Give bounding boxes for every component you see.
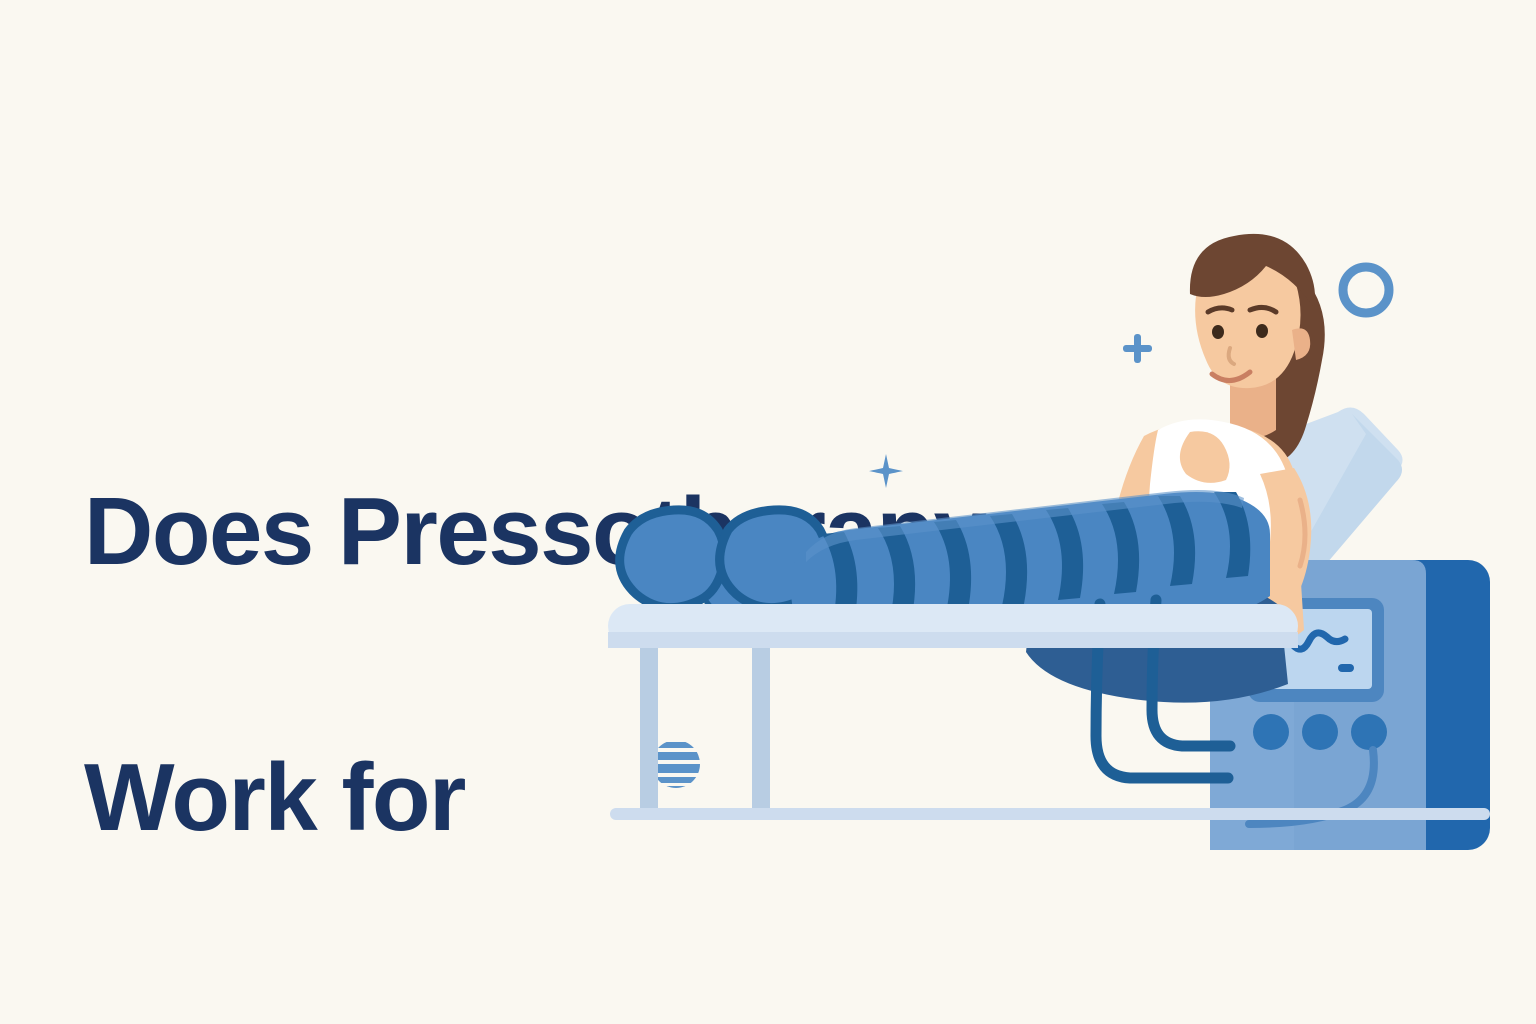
banner-canvas: Does Pressotherapy Work for Weight Loss? (0, 0, 1536, 1024)
boot-foot-left (620, 510, 725, 608)
table-base-rail (610, 808, 1490, 820)
machine-knob-3[interactable] (1351, 714, 1387, 750)
table-top-shade (608, 632, 1298, 648)
sparkle-mark-icon (869, 454, 903, 488)
plus-mark-icon (1123, 334, 1152, 363)
table-leg-left (640, 648, 658, 816)
machine-knob-2[interactable] (1302, 714, 1338, 750)
outline-circle-icon (1343, 267, 1389, 313)
eye-left (1212, 325, 1224, 339)
waveform-tick (1338, 664, 1354, 672)
eye-right (1256, 324, 1268, 338)
pressotherapy-illustration (600, 200, 1536, 900)
headline-line-3: Weight Loss? (84, 997, 1084, 1024)
table-leg-right (752, 648, 770, 816)
machine-knob-1[interactable] (1253, 714, 1289, 750)
